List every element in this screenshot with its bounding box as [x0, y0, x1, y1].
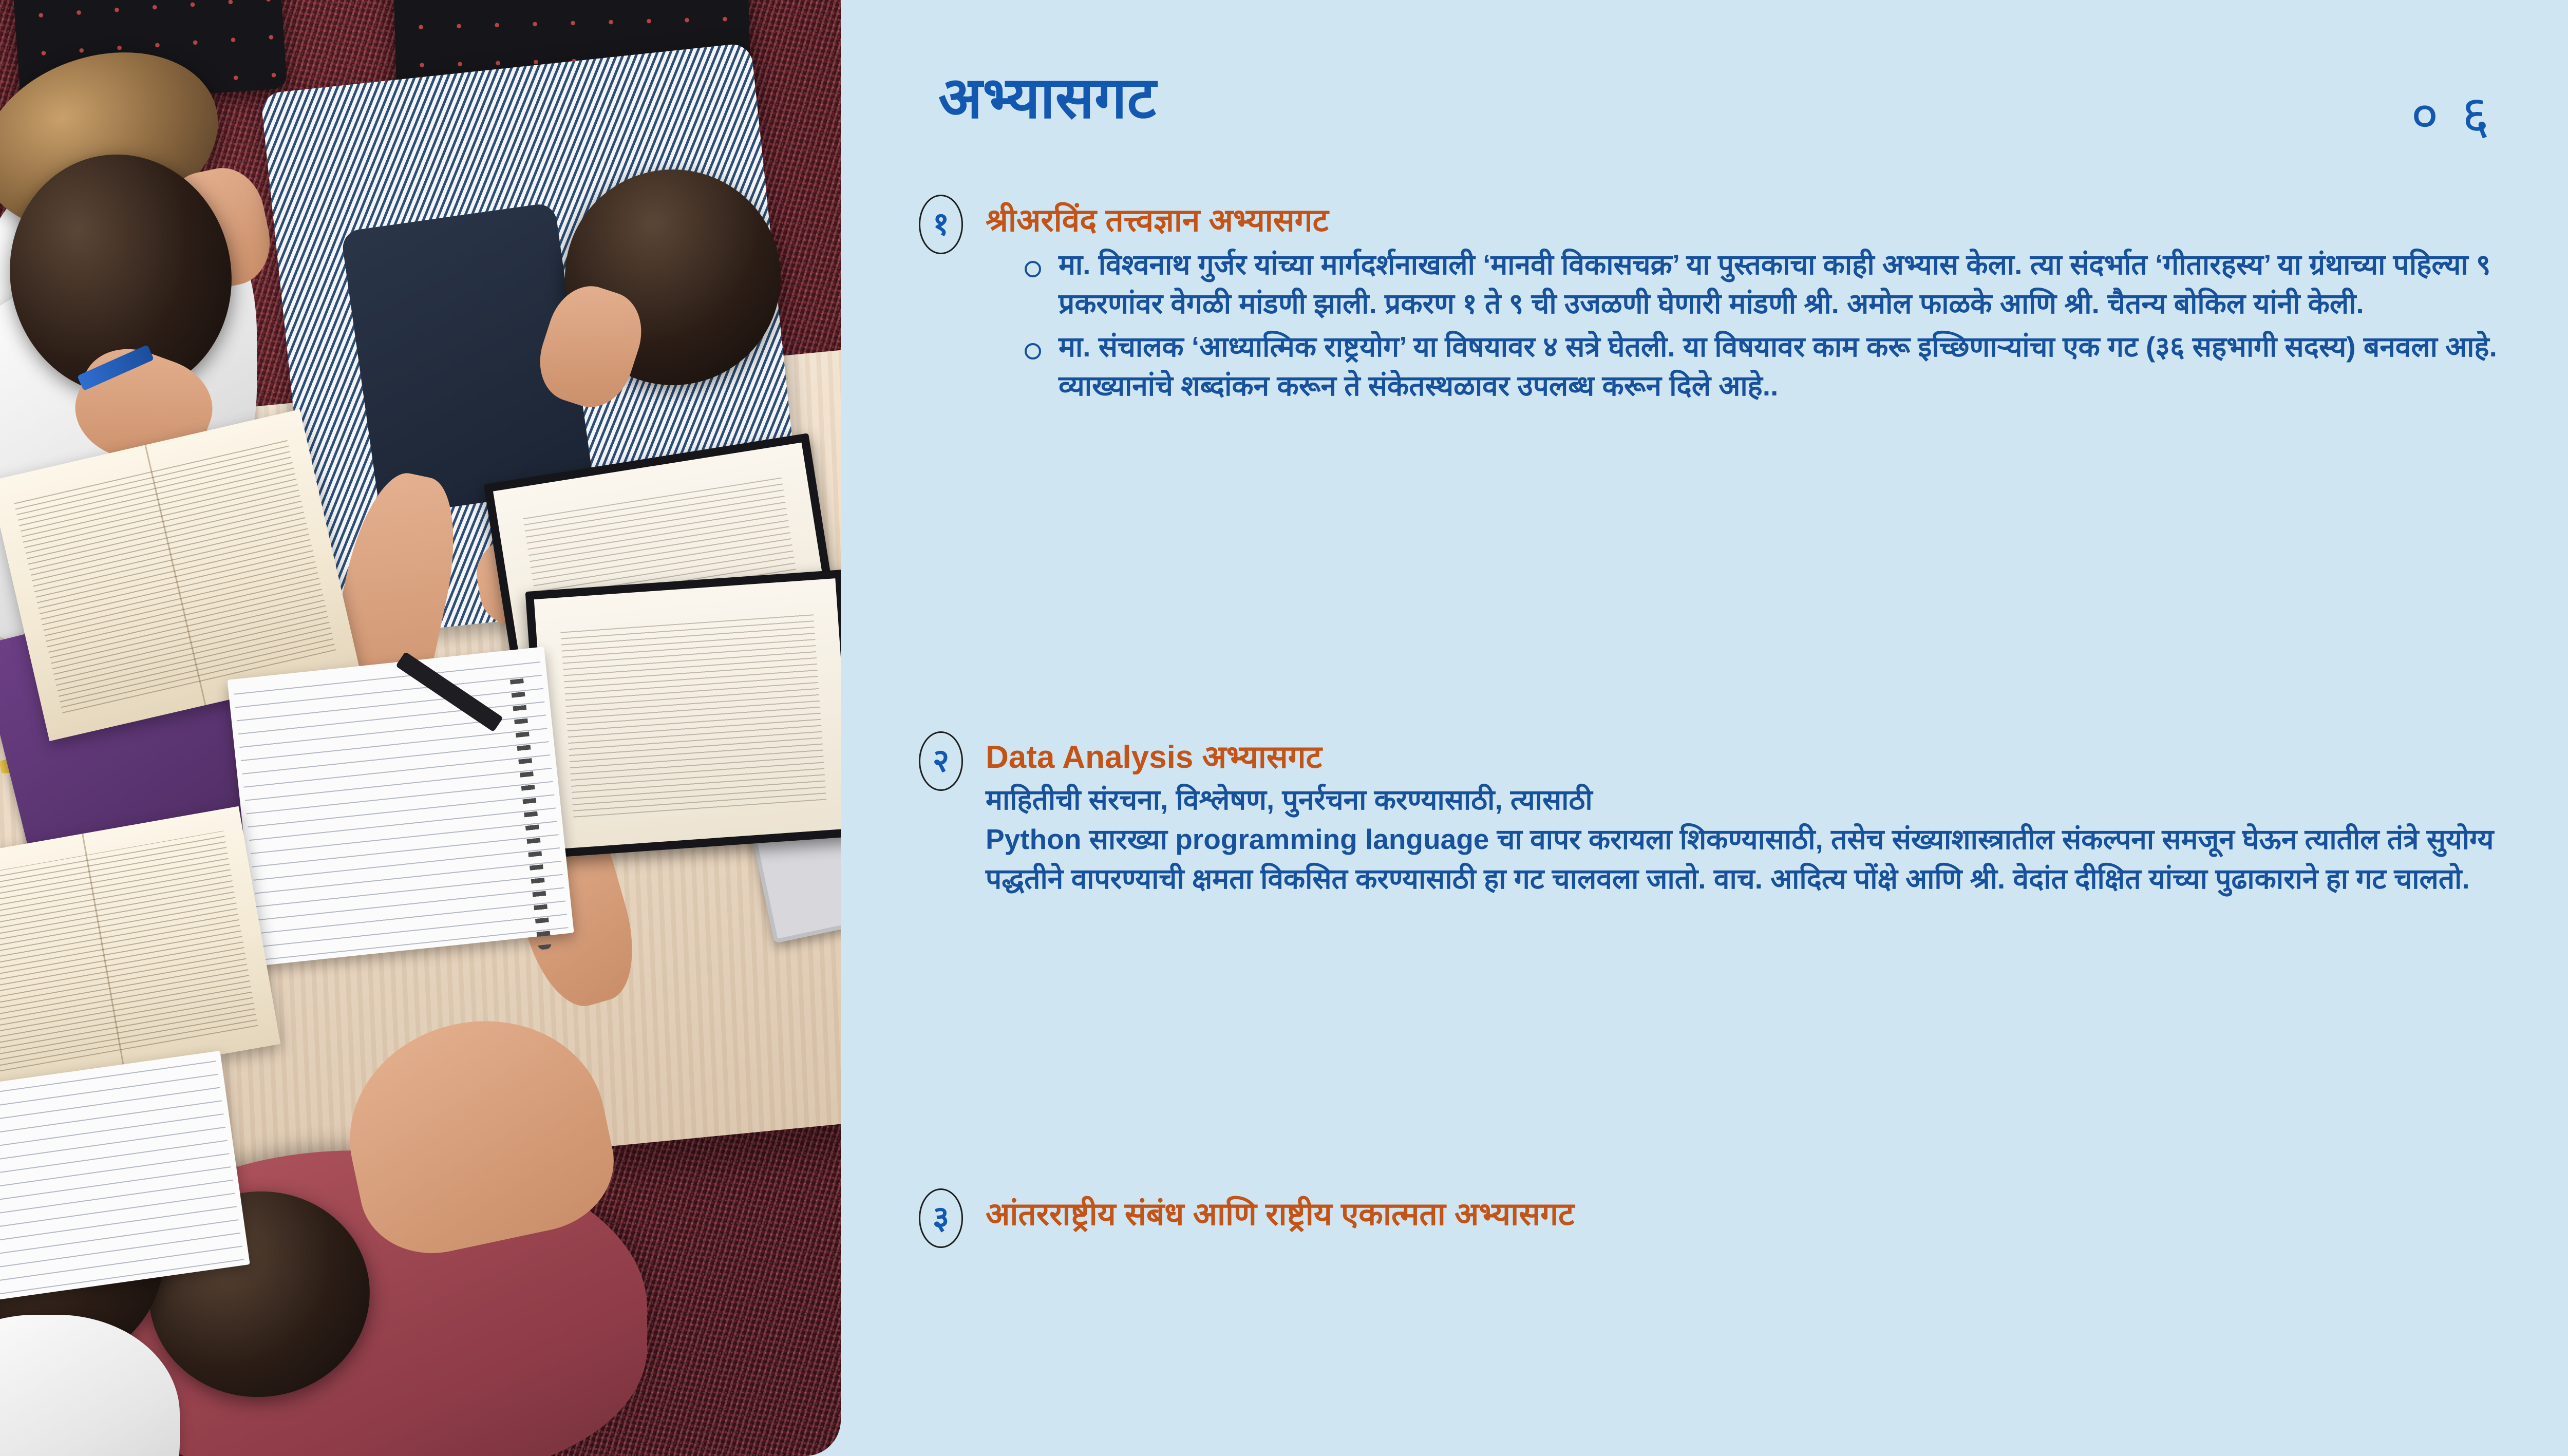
- slide-content: अभ्यासगट ० ६ १ श्रीअरविंद तत्त्वज्ञान अभ…: [841, 0, 2568, 1456]
- section-2-title: Data Analysis अभ्यासगट: [986, 740, 1322, 775]
- section-2-number: २: [919, 731, 963, 791]
- section-3-number: ३: [919, 1188, 963, 1248]
- section-2-title-mr: अभ्यासगट: [1193, 740, 1321, 775]
- study-group-photo: [0, 0, 841, 1456]
- page-number: ० ६: [2411, 77, 2494, 149]
- open-book-right: [525, 570, 841, 858]
- programming-language-keyword: programming language: [1175, 823, 1489, 855]
- section-2: २ Data Analysis अभ्यासगट माहितीची संरचना…: [841, 740, 2568, 899]
- list-item: मा. संचालक ‘आध्यात्मिक राष्ट्रयोग’ या वि…: [1022, 328, 2568, 406]
- page-title: अभ्यासगट: [938, 69, 1156, 127]
- section-2-title-en: Data Analysis: [986, 740, 1193, 775]
- list-item: मा. विश्वनाथ गुर्जर यांच्या मार्गदर्शनाख…: [1022, 245, 2568, 324]
- section-3: ३ आंतरराष्ट्रीय संबंध आणि राष्ट्रीय एकात…: [841, 1197, 2568, 1232]
- section-1-number: १: [919, 195, 963, 254]
- section-2-line-1: माहितीची संरचना, विश्लेषण, पुनर्रचना करण…: [986, 784, 1593, 816]
- section-2-line-2b: सारख्या: [1081, 823, 1175, 855]
- python-keyword: Python: [986, 823, 1081, 855]
- section-2-paragraph: माहितीची संरचना, विश्लेषण, पुनर्रचना करण…: [986, 780, 2567, 899]
- paper-sheet-bottom: [0, 1051, 250, 1301]
- section-3-title: आंतरराष्ट्रीय संबंध आणि राष्ट्रीय एकात्म…: [986, 1197, 1574, 1232]
- section-1: १ श्रीअरविंद तत्त्वज्ञान अभ्यासगट मा. वि…: [841, 203, 2568, 410]
- section-1-title: श्रीअरविंद तत्त्वज्ञान अभ्यासगट: [986, 203, 1329, 238]
- section-1-bullets: मा. विश्वनाथ गुर्जर यांच्या मार्गदर्शनाख…: [1022, 245, 2568, 406]
